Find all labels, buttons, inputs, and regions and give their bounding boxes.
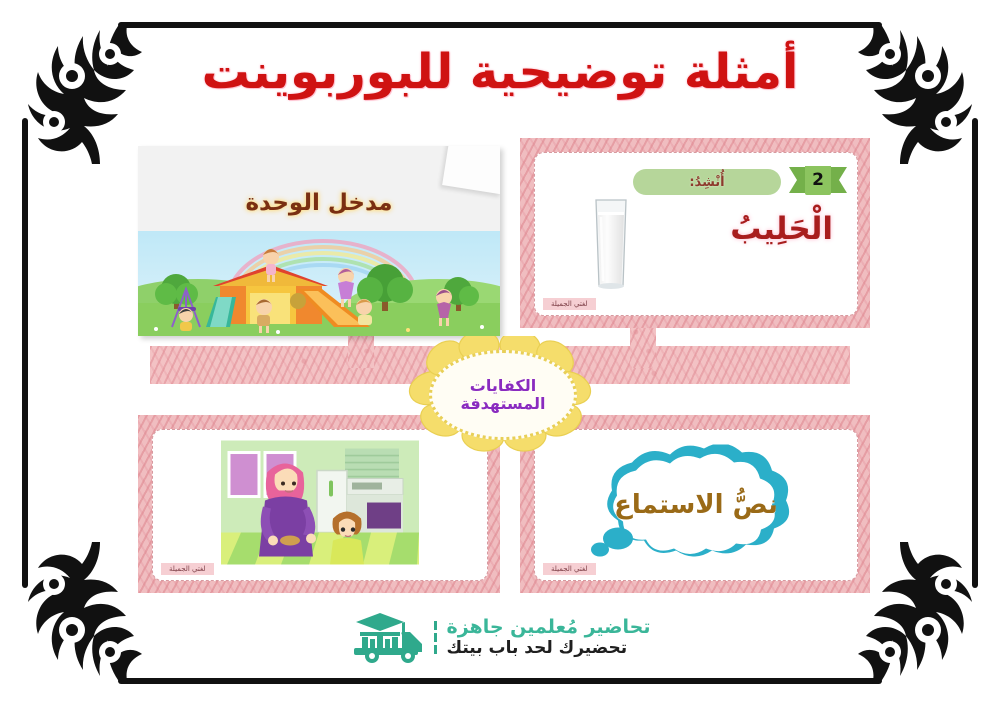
milk-word: الْحَلِيبُ — [730, 211, 833, 247]
delivery-truck-icon — [350, 610, 424, 664]
frame-bottom-line — [118, 678, 882, 684]
milk-glass-icon — [589, 197, 633, 289]
slide-corner-tag: لغتي الجميلة — [543, 563, 596, 575]
slide-anshid-milk[interactable]: أُنْشِدُ: 2 — [520, 138, 870, 328]
playground-illustration — [138, 231, 500, 336]
center-competencies-badge[interactable]: الكفايات المستهدفة — [405, 336, 595, 452]
competencies-line1: الكفايات — [470, 377, 536, 395]
brand-line-1: تحاضير مُعلمين جاهزة — [447, 616, 651, 638]
brand-divider — [434, 621, 437, 654]
page-title: أمثلة توضيحية للبوربوينت — [0, 48, 1000, 96]
slide-unit-entry[interactable]: مدخل الوحدة — [138, 146, 500, 336]
unit-entry-heading: مدخل الوحدة — [138, 190, 500, 216]
competencies-line2: المستهدفة — [461, 395, 546, 413]
slide-canvas: أُنْشِدُ: 2 — [534, 152, 858, 316]
anshid-pill: أُنْشِدُ: — [633, 169, 781, 195]
listening-text-label: نصُّ الاستماع — [535, 430, 857, 580]
lesson-number-ribbon: 2 — [789, 163, 847, 197]
anshid-label: أُنْشِدُ: — [689, 175, 724, 190]
brand-line-2: تحضيرك لحد باب بيتك — [447, 638, 628, 658]
frame-right-line — [972, 118, 978, 588]
frame-top-line — [118, 22, 882, 28]
lesson-number: 2 — [789, 163, 847, 197]
frame-left-line — [22, 118, 28, 588]
footer-brand-logo: تحاضير مُعلمين جاهزة تحضيرك لحد باب بيتك — [0, 610, 1000, 664]
slide-corner-tag: لغتي الجميلة — [161, 563, 214, 575]
brand-text-block: تحاضير مُعلمين جاهزة تحضيرك لحد باب بيتك — [447, 616, 651, 658]
slides-stage: مدخل الوحدة — [130, 138, 870, 593]
slide-paper-background: مدخل الوحدة — [138, 146, 500, 336]
slide-corner-tag: لغتي الجميلة — [543, 298, 596, 310]
mother-and-boy-illustration — [221, 441, 419, 565]
competencies-hub: الكفايات المستهدفة — [429, 350, 577, 440]
poster-page: أمثلة توضيحية للبوربوينت مدخل الوحدة — [0, 0, 1000, 706]
